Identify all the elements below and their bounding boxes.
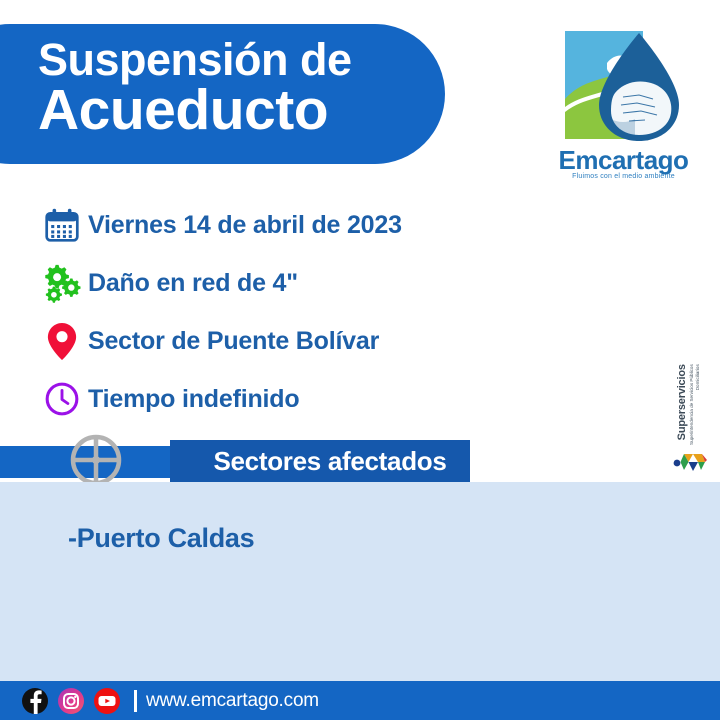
detail-row-cause: Daño en red de 4" (36, 254, 506, 312)
website-url[interactable]: www.emcartago.com (146, 690, 319, 712)
superservicios-mark-icon (672, 450, 714, 474)
emcartago-logo-mark (561, 27, 685, 147)
superservicios-logo: Superservicios Superintendencia de Servi… (668, 372, 716, 480)
page-title-line2: Acueducto (38, 83, 458, 139)
youtube-icon[interactable] (94, 688, 120, 714)
footer-divider (134, 690, 137, 712)
facebook-icon[interactable] (22, 688, 48, 714)
gears-icon (36, 259, 88, 307)
list-item: -Puerto Caldas (68, 521, 668, 556)
affected-sectors-list: -Puerto Caldas (68, 521, 668, 556)
superservicios-title: Superservicios (676, 364, 688, 460)
detail-row-date: Viernes 14 de abril de 2023 (36, 196, 506, 254)
detail-row-duration: Tiempo indefinido (36, 370, 506, 428)
notice-details-list: Viernes 14 de abril de 2023 Daño en red … (36, 196, 506, 428)
location-pin-icon (36, 317, 88, 365)
superservicios-text: Superservicios Superintendencia de Servi… (676, 364, 700, 460)
emcartago-tagline: Fluimos con el medio ambiente (551, 173, 696, 180)
detail-label-cause: Daño en red de 4" (88, 269, 298, 298)
page-title-line1: Suspensión de (38, 38, 458, 82)
valve-wheel-icon (68, 432, 124, 488)
superservicios-subtitle: Superintendencia de Servicios Públicos D… (689, 364, 700, 460)
emcartago-wordmark: Emcartago (551, 145, 696, 176)
instagram-icon[interactable] (58, 688, 84, 714)
page-title: Suspensión de Acueducto (38, 38, 458, 139)
detail-row-location: Sector de Puente Bolívar (36, 312, 506, 370)
detail-label-location: Sector de Puente Bolívar (88, 327, 379, 356)
calendar-icon (36, 201, 88, 249)
detail-label-duration: Tiempo indefinido (88, 385, 299, 414)
affected-sectors-panel (0, 482, 720, 681)
emcartago-logo: Emcartago Fluimos con el medio ambiente (551, 27, 696, 187)
detail-label-date: Viernes 14 de abril de 2023 (88, 211, 402, 240)
sectors-banner-title: Sectores afectados (190, 440, 470, 482)
footer-bar: www.emcartago.com (0, 681, 720, 720)
suspension-notice-poster: Suspensión de Acueducto (0, 0, 720, 720)
clock-icon (36, 375, 88, 423)
